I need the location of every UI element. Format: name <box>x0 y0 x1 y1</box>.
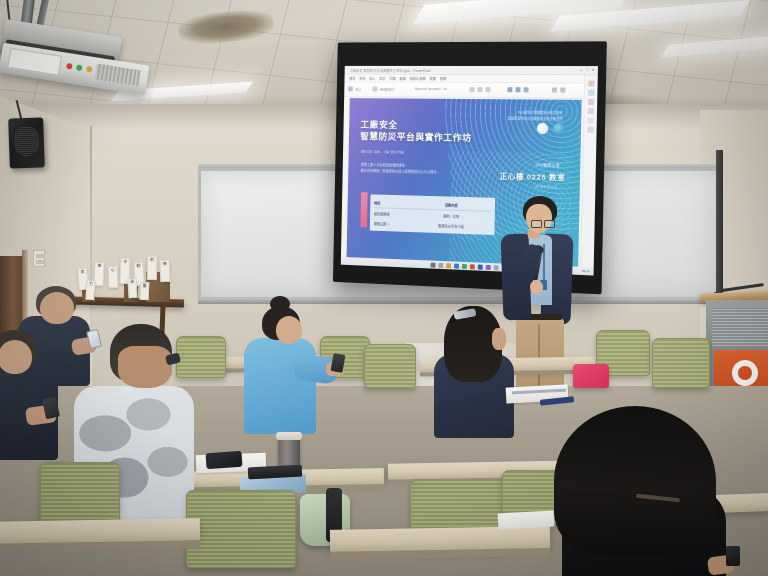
poster-text: 的 <box>148 257 156 262</box>
bullet-list-icon[interactable] <box>485 87 490 92</box>
a6-hair <box>554 406 716 556</box>
wall-outlet <box>33 250 45 267</box>
a4-head <box>276 316 302 344</box>
paste-label[interactable]: 貼上 <box>356 86 362 91</box>
audience-member-a5 <box>434 306 530 434</box>
organizer-line-1: 中山醫學大學職業安全衛生學系 <box>517 109 563 115</box>
search-icon[interactable] <box>438 262 443 267</box>
a4-jacket <box>244 338 316 434</box>
handout-papers <box>498 511 555 530</box>
minimize-icon[interactable]: — <box>579 68 583 72</box>
ribbon-group-clipboard[interactable]: 貼上 <box>348 86 361 91</box>
slide-title-line-2: 智慧防災平台與實作工作坊 <box>360 130 472 145</box>
lectern-mesh-panel <box>712 308 768 346</box>
cell-activity: 智慧防災平台介紹 <box>412 222 491 230</box>
col-header-activity: 活動內容 <box>412 201 491 208</box>
slide-room: 正心樓 0225 教室 <box>500 171 566 184</box>
poster-text: 承 <box>129 279 136 285</box>
teams-icon[interactable] <box>485 264 490 269</box>
a2-neck-head <box>118 346 172 388</box>
powerpoint-icon[interactable] <box>469 264 474 269</box>
cell-time: 報到與開場 <box>374 211 412 217</box>
select-icon[interactable] <box>560 87 565 92</box>
poster-text: 動 <box>134 263 142 269</box>
slide-time: 09:00 AM - 04:00 PM <box>361 149 404 155</box>
tab-review[interactable]: 校閱 <box>430 76 437 81</box>
poster-card: 量 <box>140 282 150 300</box>
tab-file[interactable]: 檔案 <box>349 76 355 81</box>
ribbon-group-drawing[interactable] <box>507 87 528 92</box>
slide-description-2: 產先系列課程︱防護型防災暨工廠實智慧防災平台實作︱ <box>361 168 440 175</box>
poster-card: 承 <box>127 278 137 298</box>
cup-lid <box>276 432 302 440</box>
poster-text: 心 <box>109 267 117 272</box>
poster-card: 心 <box>108 266 119 288</box>
ribbon-toolbar[interactable]: 貼上 新增投影片 Microsoft JhengHei 24 <box>344 82 597 98</box>
shapes-icon[interactable] <box>507 87 512 92</box>
edge-icon[interactable] <box>454 263 459 268</box>
chair[interactable] <box>652 338 710 388</box>
audience-member-a6 <box>548 410 738 576</box>
font-name-box[interactable]: Microsoft JhengHei <box>415 87 441 91</box>
tab-transitions[interactable]: 切換 <box>389 76 395 81</box>
poster-text: 量 <box>141 283 148 288</box>
comments-icon[interactable] <box>588 90 594 96</box>
presenter-hand <box>530 280 543 294</box>
shape-fill-icon[interactable] <box>523 87 528 92</box>
a5-face-edge <box>492 328 506 350</box>
start-icon[interactable] <box>430 262 435 267</box>
taskbar-clock: 09:14 <box>582 269 589 273</box>
col-header-time: 時段 <box>374 200 412 206</box>
new-slide-label[interactable]: 新增投影片 <box>380 87 395 92</box>
cell-time: 課程主題一 <box>374 220 412 226</box>
whiteboard-right-edge <box>716 150 723 310</box>
notes-icon[interactable] <box>588 108 594 114</box>
chair[interactable] <box>364 344 416 388</box>
tab-slideshow[interactable]: 投影片放映 <box>410 76 426 81</box>
projector-status-light <box>76 64 83 71</box>
a2-glasses-arm-icon <box>165 352 181 365</box>
tab-animations[interactable]: 動畫 <box>400 76 406 81</box>
slide-accent-bar <box>360 192 367 227</box>
slide-university: 中山醫學大學 <box>535 162 560 169</box>
audience-member-a4 <box>244 304 340 434</box>
window-title: 工廠安全-智慧防災平台與實作工作坊.pptx - PowerPoint <box>349 67 430 72</box>
poster-text: 守 <box>121 259 129 264</box>
window-controls[interactable]: — □ ✕ <box>579 68 594 72</box>
share-icon[interactable] <box>588 99 594 105</box>
explorer-icon[interactable] <box>446 263 451 268</box>
a3-head <box>0 340 32 374</box>
poster-card: 傳 <box>160 260 171 282</box>
poster-card: 的 <box>147 256 157 280</box>
tab-design[interactable]: 設計 <box>379 76 385 81</box>
agenda-table: 時段 活動內容 報到與開場 報到 · 主持 課程主題一 智慧防災平台介紹 <box>370 194 495 235</box>
emblem-logo-icon <box>732 360 758 386</box>
ribbon-group-editing[interactable] <box>552 87 565 92</box>
excel-icon[interactable] <box>461 263 466 268</box>
chair[interactable] <box>40 462 120 524</box>
backpack <box>205 451 242 469</box>
projector-vent <box>95 64 141 87</box>
ribbon-group-slides[interactable]: 新增投影片 <box>373 87 395 92</box>
pink-tote-bag <box>573 364 609 388</box>
slide-date: 114 年 6 月 5 日 <box>534 184 557 190</box>
maximize-icon[interactable]: □ <box>586 68 588 72</box>
designer-icon[interactable] <box>588 80 594 86</box>
classroom-scene: 工廠安全-智慧防災平台與實作工作坊.pptx - PowerPoint — □ … <box>0 0 768 576</box>
paste-icon[interactable] <box>348 86 353 91</box>
projector-status-light <box>66 63 73 70</box>
word-icon[interactable] <box>477 264 482 269</box>
poster-text: 傳 <box>161 261 169 266</box>
a4-hair-bun <box>270 296 290 312</box>
presenter-face <box>526 204 552 233</box>
close-icon[interactable]: ✕ <box>592 68 595 72</box>
tab-insert[interactable]: 插入 <box>369 76 375 81</box>
projector-status-light <box>86 66 93 73</box>
tab-view[interactable]: 檢視 <box>440 76 447 81</box>
chat-icon[interactable] <box>493 265 498 270</box>
format-pane-icon[interactable] <box>587 127 593 133</box>
tab-home[interactable]: 常用 <box>359 76 365 81</box>
audience-member-a3 <box>0 330 64 460</box>
ribbon-group-font[interactable]: Microsoft JhengHei 24 <box>415 87 447 91</box>
cell-activity: 報到 · 主持 <box>412 212 491 219</box>
arrange-icon[interactable] <box>515 87 520 92</box>
projector-label <box>7 48 61 76</box>
a1-head <box>40 292 74 324</box>
eyeglasses-icon <box>531 220 555 226</box>
right-side-panel[interactable] <box>580 75 598 268</box>
ribbon-group-paragraph[interactable] <box>469 87 490 92</box>
find-icon[interactable] <box>552 87 557 92</box>
help-icon[interactable] <box>588 117 594 123</box>
font-size-box[interactable]: 24 <box>443 87 446 91</box>
new-slide-icon[interactable] <box>373 87 378 92</box>
poster-text: 鄉 <box>95 263 103 269</box>
poster-text: 家 <box>78 269 86 275</box>
a6-phone <box>726 546 740 566</box>
align-center-icon[interactable] <box>477 87 482 92</box>
wall-speaker <box>8 117 45 168</box>
chair[interactable] <box>186 490 296 568</box>
align-left-icon[interactable] <box>469 87 474 92</box>
organizer-line-2: 智慧型智慧防災暨產業安全衛生研究所 <box>508 115 563 121</box>
